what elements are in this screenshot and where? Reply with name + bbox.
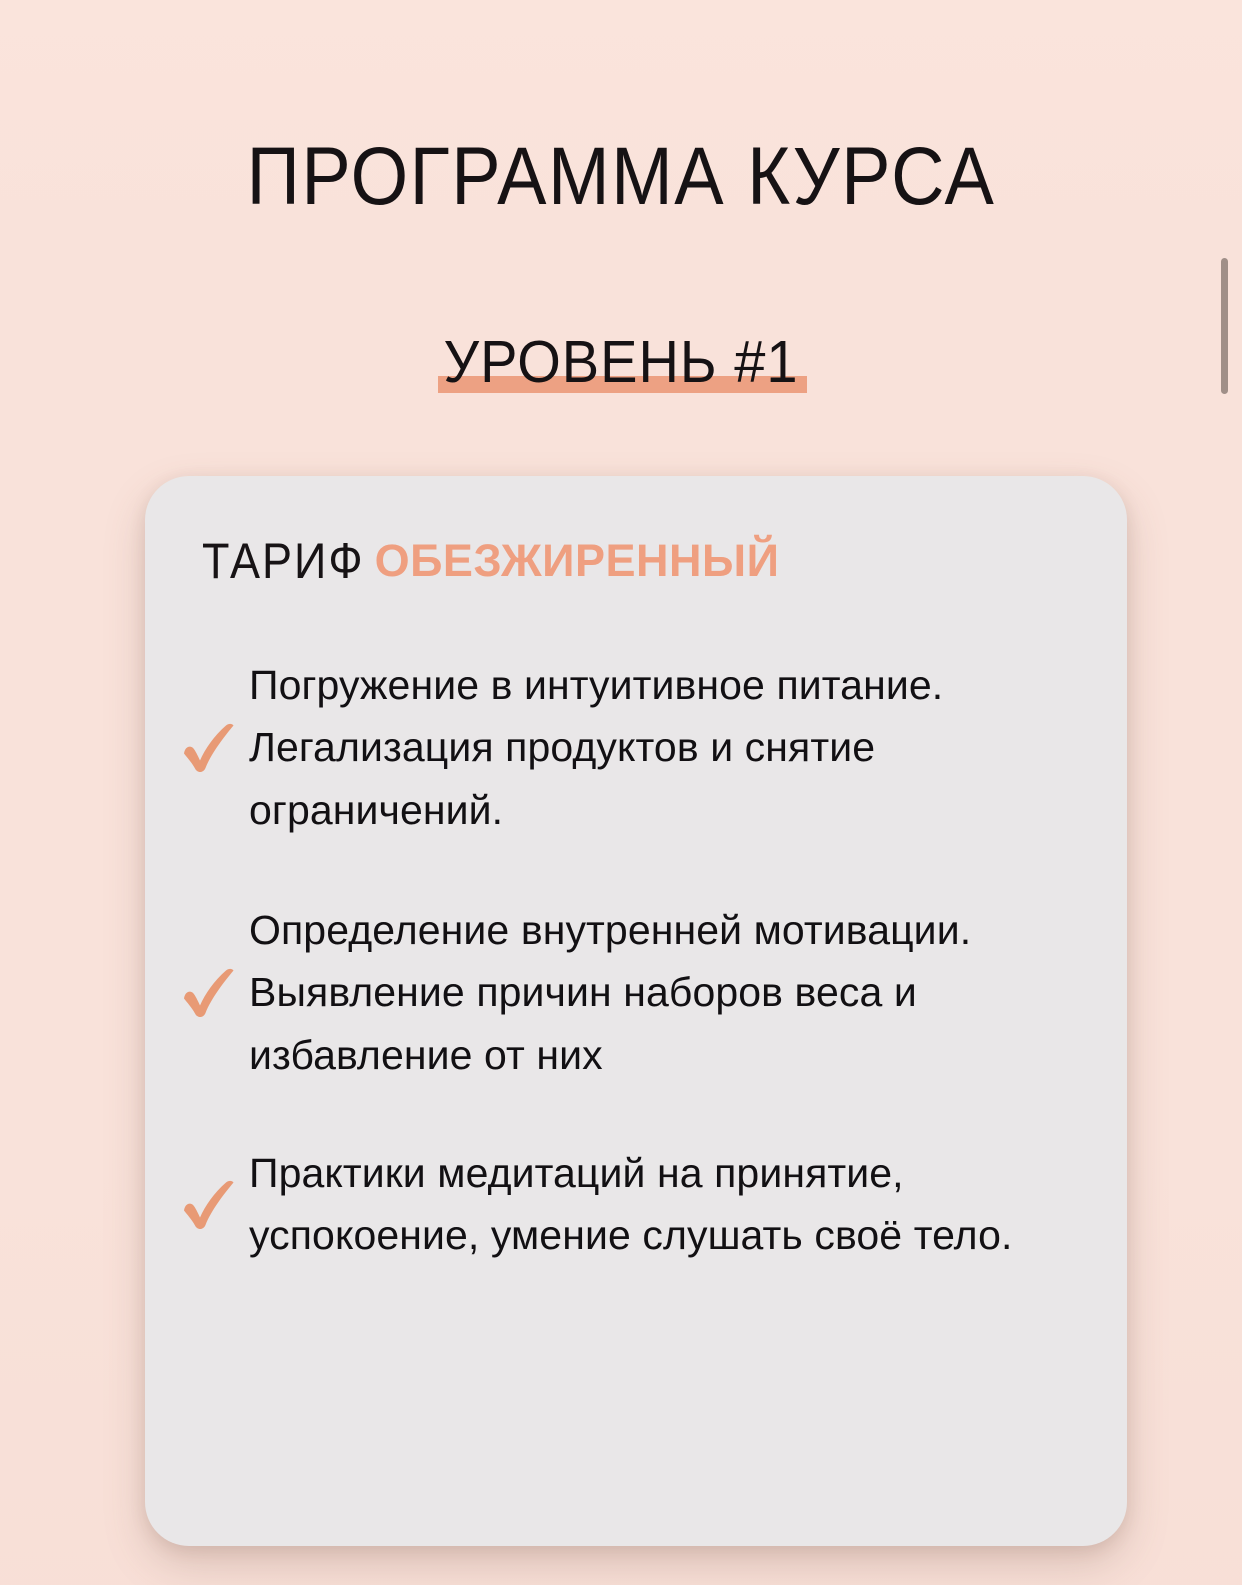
- tariff-heading: ТАРИФОБЕЗЖИРЕННЫЙ: [202, 538, 779, 583]
- list-item: Погружение в интуитивное питание. Легали…: [145, 654, 1127, 841]
- level-heading: УРОВЕНЬ #1: [0, 333, 1242, 403]
- tariff-card: ТАРИФОБЕЗЖИРЕННЫЙ Погружение в интуитивн…: [145, 476, 1127, 1546]
- tariff-name: ОБЕЗЖИРЕННЫЙ: [375, 538, 780, 583]
- list-item-text: Определение внутренней мотивации. Выявле…: [249, 899, 1113, 1086]
- page-title: ПРОГРАММА КУРСА: [0, 136, 1242, 217]
- scrollbar[interactable]: [1220, 0, 1242, 1585]
- check-mark-icon: [171, 958, 249, 1022]
- list-item-text: Практики медитаций на принятие, успокоен…: [249, 1142, 1113, 1267]
- check-mark-icon: [171, 713, 249, 777]
- scrollbar-thumb[interactable]: [1221, 258, 1228, 394]
- list-item: Определение внутренней мотивации. Выявле…: [145, 899, 1127, 1086]
- slide-page: ПРОГРАММА КУРСА УРОВЕНЬ #1 ТАРИФОБЕЗЖИРЕ…: [0, 0, 1242, 1585]
- list-item: Практики медитаций на принятие, успокоен…: [145, 1142, 1127, 1267]
- check-mark-icon: [171, 1170, 249, 1234]
- tariff-label: ТАРИФ: [202, 535, 365, 585]
- list-item-text: Погружение в интуитивное питание. Легали…: [249, 654, 1113, 841]
- level-label: УРОВЕНЬ #1: [444, 331, 799, 393]
- feature-list: Погружение в интуитивное питание. Легали…: [145, 654, 1127, 1267]
